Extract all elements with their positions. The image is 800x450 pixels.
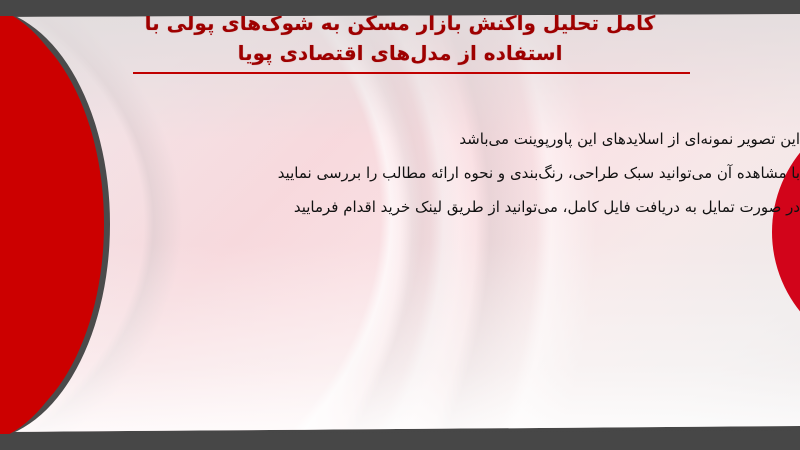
body-line-3: در صورت تمایل به دریافت فایل کامل، می‌تو… — [120, 190, 800, 224]
top-frame-bar — [0, 0, 800, 16]
slide-title-line-2: استفاده از مدل‌های اقتصادی پویا — [0, 38, 800, 68]
slide-body-text: این تصویر نمونه‌ای از اسلایدهای این پاور… — [0, 122, 800, 224]
body-line-2: با مشاهده آن می‌توانید سبک طراحی، رنگ‌بن… — [120, 156, 800, 190]
presentation-slide: کامل تحلیل واکنش بازار مسکن به شوک‌های پ… — [0, 0, 800, 450]
title-underline-rule — [133, 72, 690, 74]
bottom-frame-bar — [0, 430, 800, 450]
slide-title: کامل تحلیل واکنش بازار مسکن به شوک‌های پ… — [0, 8, 800, 68]
body-line-1: این تصویر نمونه‌ای از اسلایدهای این پاور… — [120, 122, 800, 156]
